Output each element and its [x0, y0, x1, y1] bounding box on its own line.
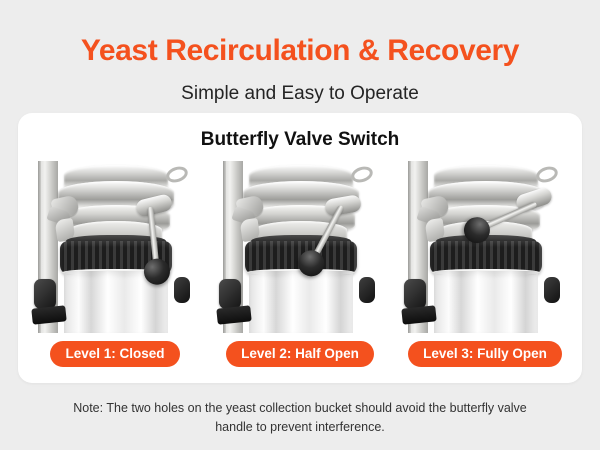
butterfly-valve-closed-photo [30, 161, 200, 333]
yeast-collection-bucket [249, 271, 353, 333]
bucket-knob-left [219, 279, 241, 309]
mounting-bracket [31, 305, 66, 324]
card-title: Butterfly Valve Switch [18, 127, 582, 153]
bucket-knob-right [359, 277, 375, 303]
bucket-knob-left [404, 279, 426, 309]
butterfly-valve-half-open-photo [215, 161, 385, 333]
valve-panel-level-3 [400, 161, 570, 336]
valve-panel-level-2 [215, 161, 385, 336]
bucket-knob-right [544, 277, 560, 303]
level-badges: Level 1: Closed Level 2: Half Open Level… [30, 341, 570, 367]
yeast-collection-bucket [434, 271, 538, 333]
bucket-knob-left [34, 279, 56, 309]
butterfly-valve-fully-open-photo [400, 161, 570, 333]
page-title: Yeast Recirculation & Recovery [0, 31, 600, 71]
valve-panel-level-1 [30, 161, 200, 336]
status-badge-level-3: Level 3: Fully Open [408, 341, 562, 367]
valve-switch-card: Butterfly Valve Switch [18, 113, 582, 383]
status-badge-level-2: Level 2: Half Open [226, 341, 374, 367]
bucket-knob-right [174, 277, 190, 303]
valve-panels [30, 161, 570, 336]
promo-banner: Yeast Recirculation & Recovery Simple an… [0, 0, 600, 450]
wing-lug-icon [534, 164, 560, 185]
mounting-bracket [216, 305, 251, 324]
note-text: Note: The two holes on the yeast collect… [60, 399, 540, 437]
wing-lug-icon [349, 164, 375, 185]
badge-slot-3: Level 3: Fully Open [400, 341, 570, 367]
badge-slot-1: Level 1: Closed [30, 341, 200, 367]
status-badge-level-1: Level 1: Closed [50, 341, 179, 367]
page-subtitle: Simple and Easy to Operate [0, 80, 600, 107]
mounting-bracket [401, 305, 436, 324]
badge-slot-2: Level 2: Half Open [215, 341, 385, 367]
wing-lug-icon [164, 164, 190, 185]
